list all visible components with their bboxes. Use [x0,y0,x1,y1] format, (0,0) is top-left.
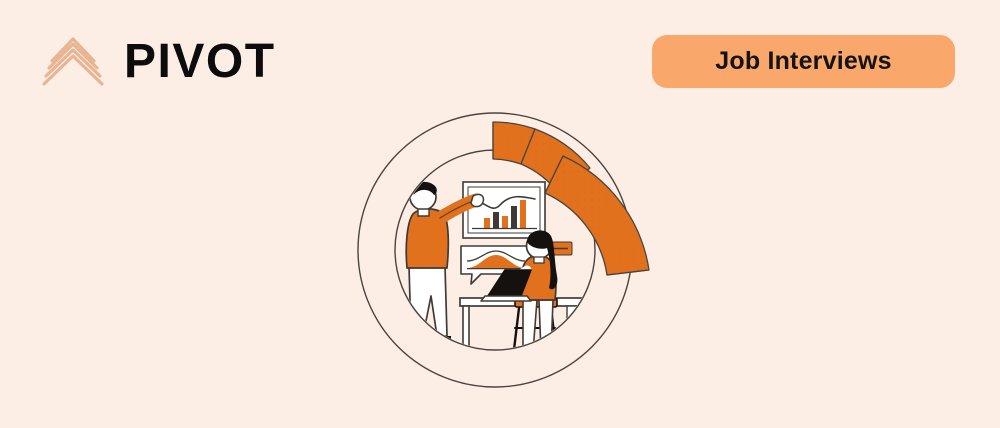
pie-wedge-segment-b [545,156,649,275]
whiteboard-bar-chart [463,182,545,238]
chevron-stripes-icon [38,34,108,90]
team-analyzing-pie-chart-illustration [345,100,665,420]
banner-root: PIVOT Job Interviews [0,0,1000,428]
brand-lockup[interactable]: PIVOT [38,30,276,94]
category-pill[interactable]: Job Interviews [652,35,955,88]
brand-wordmark: PIVOT [124,38,276,86]
category-pill-label: Job Interviews [715,47,891,76]
